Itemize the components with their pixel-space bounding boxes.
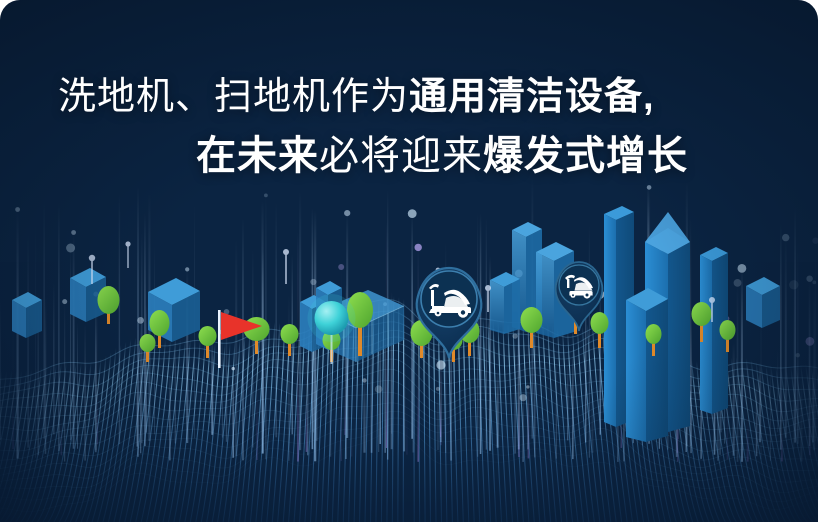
headline-line1-bold: 通用清洁设备, [409, 76, 655, 118]
headline-block: 洗地机、扫地机作为通用清洁设备, 在未来必将迎来爆发式增长 [0, 74, 818, 181]
poster-canvas: 洗地机、扫地机作为通用清洁设备, 在未来必将迎来爆发式增长 [0, 0, 818, 522]
map-pin-floor-sweeper[interactable] [551, 258, 607, 334]
skyscrapers [604, 206, 728, 442]
floor-sweeper-icon [551, 258, 607, 334]
headline-line2-thin: 必将迎来 [319, 134, 483, 178]
headline-line2-bold-b: 爆发式增长 [483, 134, 688, 178]
floor-scrubber-icon [411, 262, 487, 362]
headline-line1-thin: 洗地机、扫地机作为 [58, 76, 409, 118]
headline-line2-bold-a: 在未来 [196, 134, 319, 178]
headline-line-1: 洗地机、扫地机作为通用清洁设备, [46, 74, 772, 120]
headline-line-2: 在未来必将迎来爆发式增长 [46, 132, 772, 181]
city-scene [0, 192, 818, 522]
map-pin-floor-scrubber[interactable] [411, 262, 487, 362]
